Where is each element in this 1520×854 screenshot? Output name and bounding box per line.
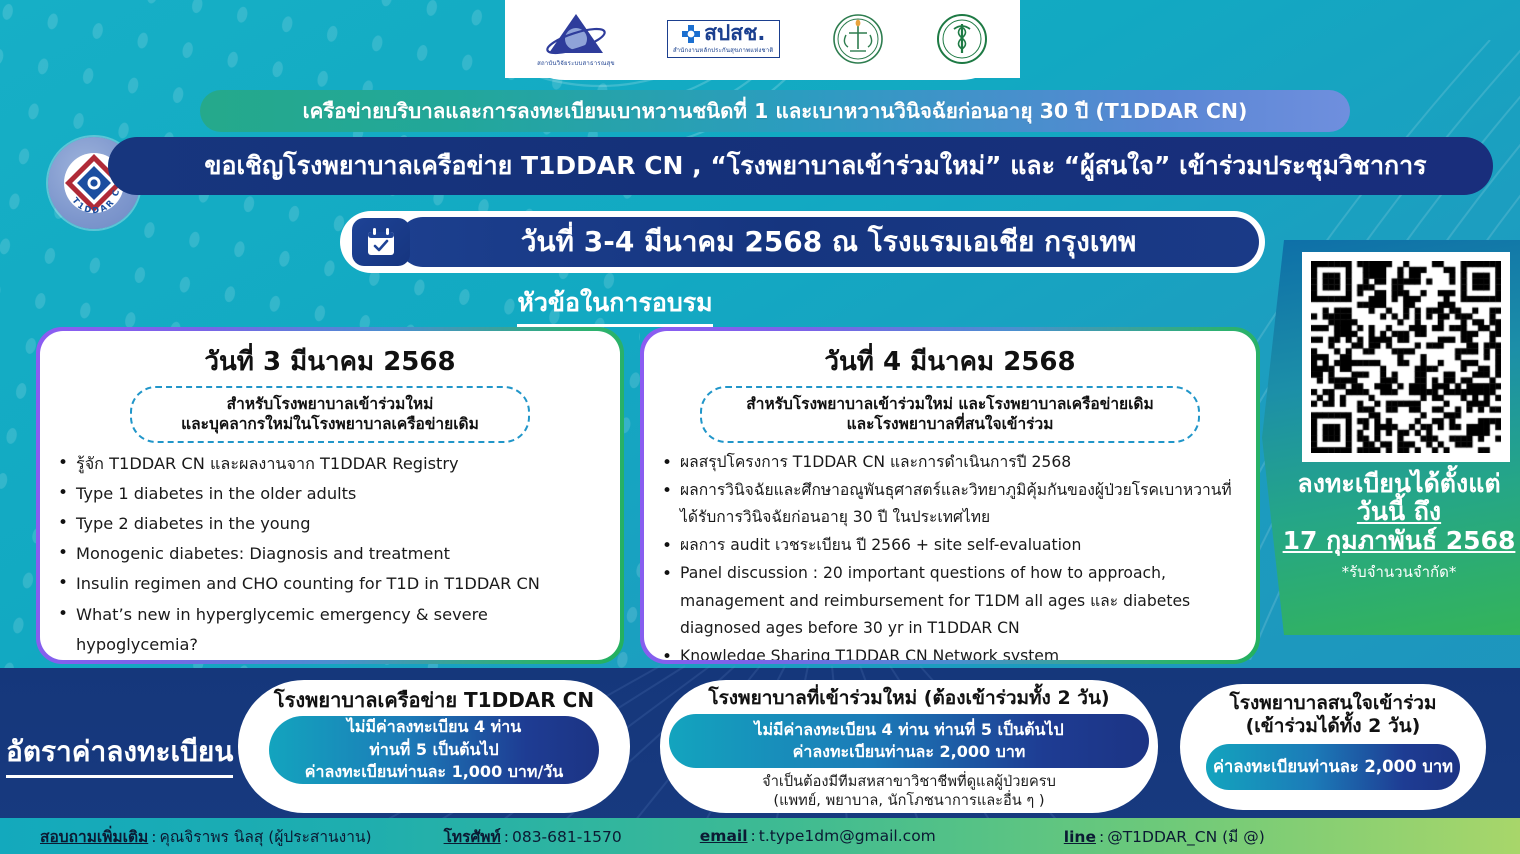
contact-email: email : t.type1dm@gmail.com (700, 827, 936, 845)
qr-line-1: ลงทะเบียนได้ตั้งแต่ (1282, 470, 1516, 498)
contact-phone-sep: : (504, 828, 509, 846)
fee-card-network-head: โรงพยาบาลเครือข่าย T1DDAR CN (274, 688, 594, 712)
bullet-item: What’s new in hyperglycemic emergency & … (54, 600, 606, 660)
day1-card: วันที่ 3 มีนาคม 2568 สำหรับโรงพยาบาลเข้า… (36, 327, 624, 664)
partner-logos: สถาบันวิจัยระบบสาธารณสุข สปสช. สำนักงานห… (505, 0, 1020, 78)
contact-email-value[interactable]: t.type1dm@gmail.com (759, 827, 936, 845)
date-venue-bar: วันที่ 3-4 มีนาคม 2568 ณ โรงแรมเอเชีย กร… (340, 211, 1265, 273)
qr-line-4: *รับจำนวนจำกัด* (1282, 560, 1516, 584)
contact-email-key: email (700, 827, 748, 845)
date-venue-text: วันที่ 3-4 มีนาคม 2568 ณ โรงแรมเอเชีย กร… (521, 220, 1137, 264)
bullet-item: Insulin regimen and CHO counting for T1D… (54, 569, 606, 599)
day2-title: วันที่ 4 มีนาคม 2568 (658, 341, 1242, 382)
contact-phone-key: โทรศัพท์ (444, 824, 501, 849)
bullet-item: ผลการวินิจฉัยและศึกษาอณูพันธุศาสตร์และวิ… (658, 477, 1242, 533)
nhso-acronym: สปสช. (704, 23, 765, 44)
bullet-item: ผลสรุปโครงการ T1DDAR CN และการดำเนินการป… (658, 449, 1242, 477)
day2-card: วันที่ 4 มีนาคม 2568 สำหรับโรงพยาบาลเข้า… (640, 327, 1260, 664)
qr-line-2: วันนี้ ถึง (1282, 498, 1516, 526)
fee-section-label: อัตราค่าลงทะเบียน (6, 730, 233, 778)
topics-heading-text: หัวข้อในการอบรม (517, 283, 712, 327)
bullet-item: Panel discussion : 20 important question… (658, 560, 1242, 643)
bullet-item: Knowledge Sharing T1DDAR CN Network syst… (658, 643, 1242, 660)
day1-bullet-list: รู้จัก T1DDAR CN และผลงานจาก T1DDAR Regi… (54, 449, 606, 660)
contact-person-key: สอบถามเพิ่มเติม (40, 824, 148, 849)
hsri-logo: สถาบันวิจัยระบบสาธารณสุข (537, 11, 615, 68)
royal-college-logo (832, 13, 884, 65)
day1-subtitle: สำหรับโรงพยาบาลเข้าร่วมใหม่และบุคลากรใหม… (130, 386, 530, 443)
contact-footer: สอบถามเพิ่มเติม : คุณจิราพร นิลสุ (ผู้ปร… (0, 818, 1520, 854)
fee-card-interested-pill: ค่าลงทะเบียนท่านละ 2,000 บาท (1206, 744, 1460, 790)
contact-line: line : @T1DDAR_CN (มี @) (1064, 824, 1265, 849)
contact-person-value: คุณจิราพร นิลสุ (ผู้ประสานงาน) (159, 824, 371, 849)
registration-qr-panel: ลงทะเบียนได้ตั้งแต่ วันนี้ ถึง 17 กุมภาพ… (1262, 240, 1520, 635)
fee-card-interested: โรงพยาบาลสนใจเข้าร่วม(เข้าร่วมได้ทั้ง 2 … (1180, 684, 1486, 810)
contact-email-sep: : (751, 827, 756, 845)
day2-subtitle: สำหรับโรงพยาบาลเข้าร่วมใหม่ และโรงพยาบาล… (700, 386, 1200, 443)
bullet-item: Type 1 diabetes in the older adults (54, 479, 606, 509)
registration-deadline: ลงทะเบียนได้ตั้งแต่ วันนี้ ถึง 17 กุมภาพ… (1282, 470, 1516, 584)
fee-card-new-hospital-head: โรงพยาบาลที่เข้าร่วมใหม่ (ต้องเข้าร่วมทั… (708, 687, 1109, 710)
bullet-item: รู้จัก T1DDAR CN และผลงานจาก T1DDAR Regi… (54, 449, 606, 479)
day2-bullet-list: ผลสรุปโครงการ T1DDAR CN และการดำเนินการป… (658, 449, 1242, 660)
network-title-banner: เครือข่ายบริบาลและการลงทะเบียนเบาหวานชนิ… (200, 90, 1350, 132)
poster-root: สถาบันวิจัยระบบสาธารณสุข สปสช. สำนักงานห… (0, 0, 1520, 854)
contact-line-sep: : (1099, 828, 1104, 846)
fee-card-network: โรงพยาบาลเครือข่าย T1DDAR CN ไม่มีค่าลงท… (238, 680, 630, 813)
fee-card-network-pill: ไม่มีค่าลงทะเบียน 4 ท่านท่านที่ 5 เป็นต้… (269, 716, 599, 784)
invite-title-text: ขอเชิญโรงพยาบาลเครือข่าย T1DDAR CN , “โร… (204, 146, 1426, 186)
fee-card-interested-head: โรงพยาบาลสนใจเข้าร่วม(เข้าร่วมได้ทั้ง 2 … (1230, 692, 1437, 738)
fee-card-new-hospital-note: จำเป็นต้องมีทีมสหสาขาวิชาชีพที่ดูแลผู้ป่… (762, 773, 1056, 811)
contact-line-value[interactable]: @T1DDAR_CN (มี @) (1107, 824, 1265, 849)
nhso-logo-caption: สำนักงานหลักประกันสุขภาพแห่งชาติ (673, 45, 774, 55)
nhso-logo: สปสช. สำนักงานหลักประกันสุขภาพแห่งชาติ (667, 20, 780, 58)
network-title-text: เครือข่ายบริบาลและการลงทะเบียนเบาหวานชนิ… (303, 95, 1248, 128)
qr-code-icon[interactable] (1302, 252, 1510, 462)
fee-card-new-hospital: โรงพยาบาลที่เข้าร่วมใหม่ (ต้องเข้าร่วมทั… (660, 680, 1158, 813)
hsri-logo-caption: สถาบันวิจัยระบบสาธารณสุข (537, 58, 615, 68)
contact-phone-value[interactable]: 083-681-1570 (512, 828, 622, 846)
contact-phone: โทรศัพท์ : 083-681-1570 (444, 824, 622, 849)
calendar-icon (352, 218, 410, 266)
contact-person: สอบถามเพิ่มเติม : คุณจิราพร นิลสุ (ผู้ปร… (40, 824, 372, 849)
qr-line-3: 17 กุมภาพันธ์ 2568 (1282, 526, 1516, 556)
day1-title: วันที่ 3 มีนาคม 2568 (54, 341, 606, 382)
bullet-item: ผลการ audit เวชระเบียน ปี 2566 + site se… (658, 532, 1242, 560)
contact-person-sep: : (151, 828, 156, 846)
bullet-item: Monogenic diabetes: Diagnosis and treatm… (54, 539, 606, 569)
contact-line-key: line (1064, 828, 1096, 846)
fee-card-new-hospital-pill: ไม่มีค่าลงทะเบียน 4 ท่าน ท่านที่ 5 เป็นต… (669, 714, 1149, 768)
moph-logo (936, 13, 988, 65)
invite-title-banner: ขอเชิญโรงพยาบาลเครือข่าย T1DDAR CN , “โร… (108, 137, 1493, 195)
bullet-item: Type 2 diabetes in the young (54, 509, 606, 539)
